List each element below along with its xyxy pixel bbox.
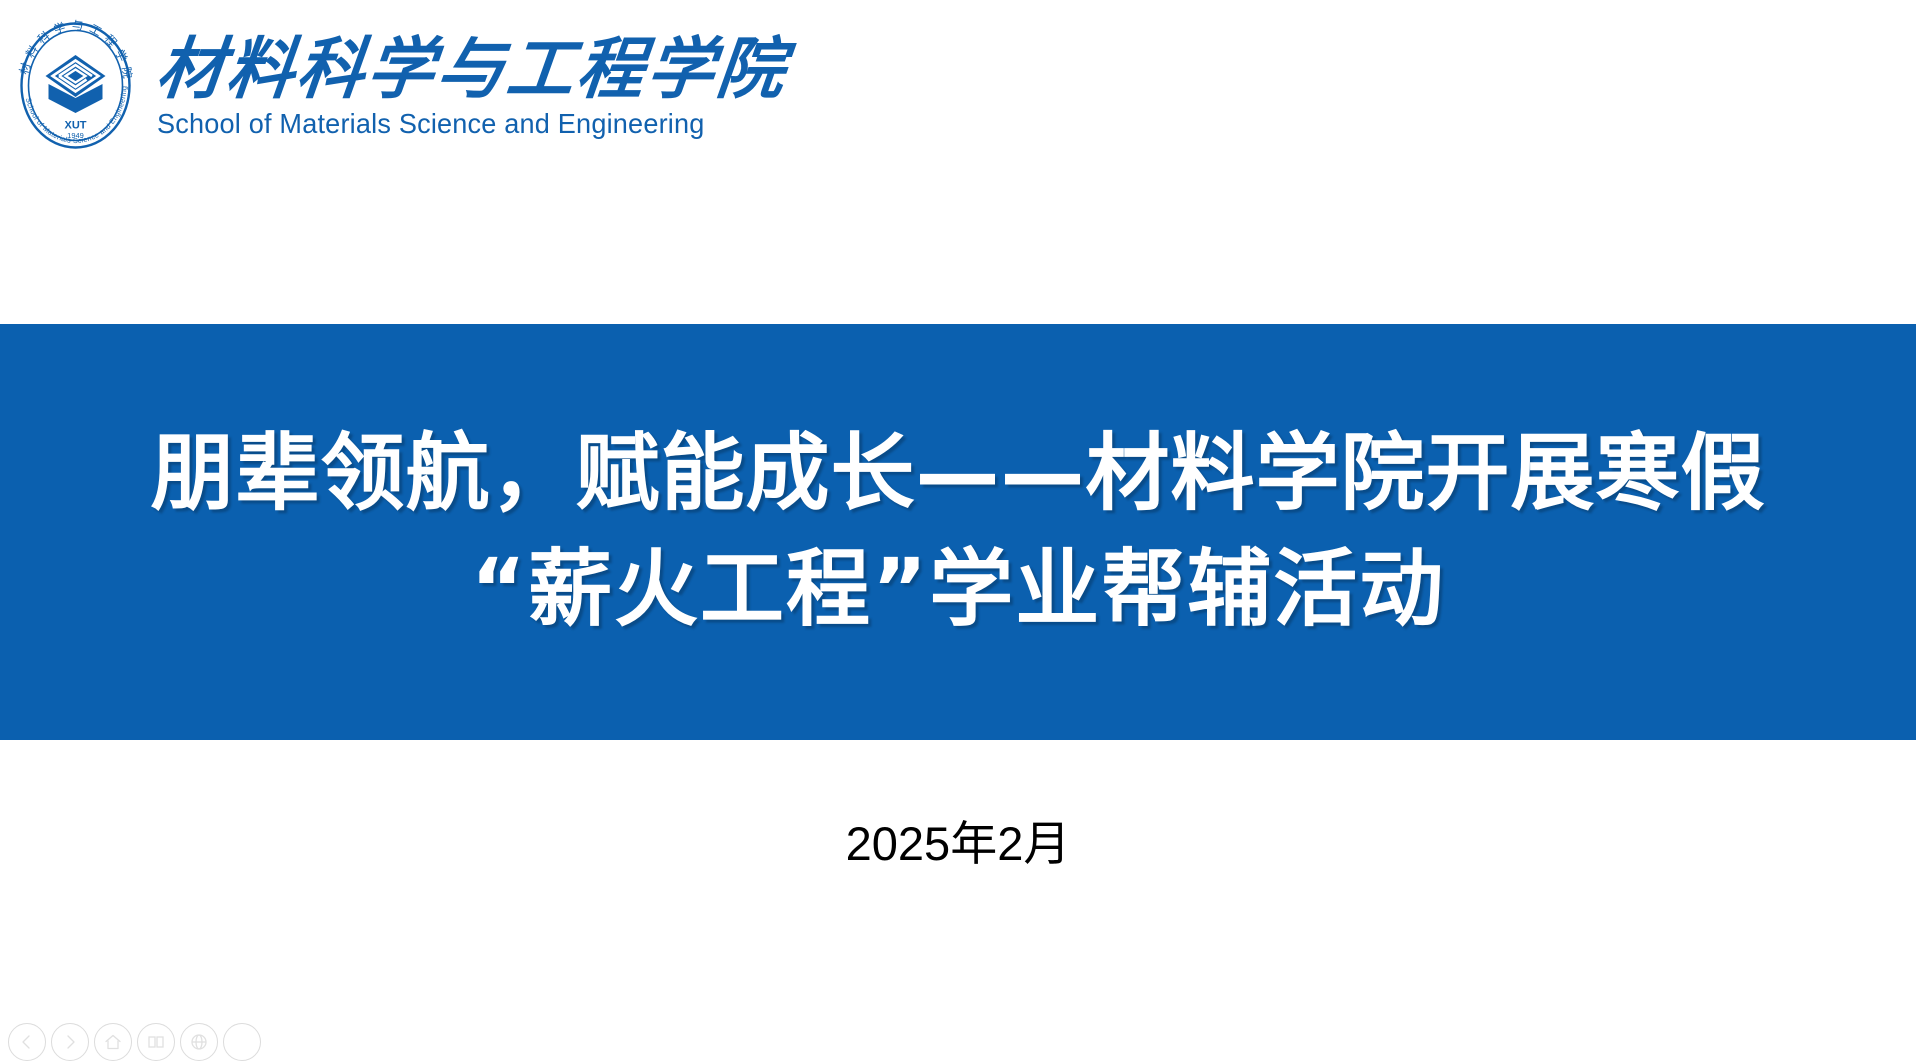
blank-circle-icon-button[interactable]	[223, 1023, 261, 1061]
title-band: 朋辈领航，赋能成长——材料学院开展寒假 “薪火工程”学业帮辅活动	[0, 324, 1916, 740]
school-wordmark: 材料科学与工程学院 School of Materials Science an…	[157, 32, 787, 140]
slide-title-line-2: “薪火工程”学业帮辅活动	[471, 532, 1445, 648]
back-arrow-icon-button[interactable]	[8, 1023, 46, 1061]
forward-arrow-icon-button[interactable]	[51, 1023, 89, 1061]
globe-icon	[189, 1032, 209, 1052]
globe-icon-button[interactable]	[180, 1023, 218, 1061]
home-icon	[103, 1032, 123, 1052]
slide-date: 2025年2月	[0, 805, 1916, 874]
slide-canvas: 材料科学与工程学院 School of Materials Science an…	[0, 0, 1916, 1042]
seal-abbreviation: XUT	[65, 120, 87, 132]
mini-toolbar	[8, 1023, 261, 1061]
university-seal-icon: 材料科学与工程学院 School of Materials Science an…	[8, 18, 143, 153]
grid-view-icon-button[interactable]	[137, 1023, 175, 1061]
school-name-en: School of Materials Science and Engineer…	[157, 108, 778, 140]
back-arrow-icon	[17, 1032, 37, 1052]
school-logo-lockup: 材料科学与工程学院 School of Materials Science an…	[8, 18, 787, 153]
school-name-cn: 材料科学与工程学院	[153, 36, 790, 104]
home-icon-button[interactable]	[94, 1023, 132, 1061]
forward-arrow-icon	[60, 1032, 80, 1052]
seal-founded-year: 1949	[67, 131, 84, 140]
slide-title-line-1: 朋辈领航，赋能成长——材料学院开展寒假	[150, 416, 1765, 532]
grid-view-icon	[146, 1032, 166, 1052]
blank-circle-icon	[232, 1032, 252, 1052]
